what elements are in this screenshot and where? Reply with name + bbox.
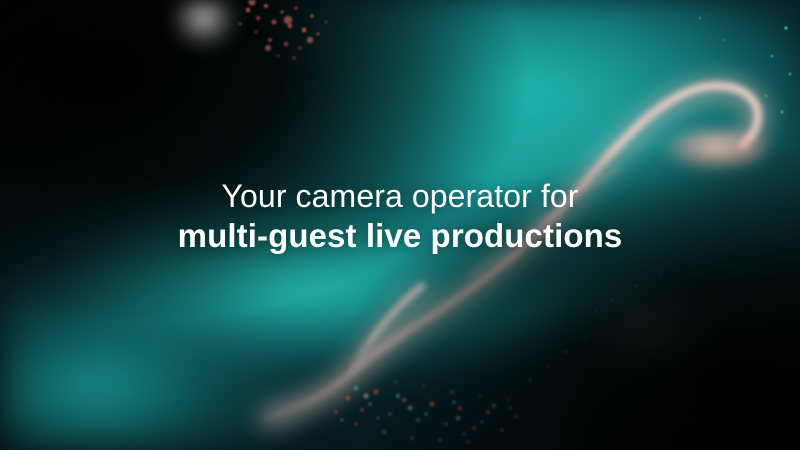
headline-line-emphasis: multi-guest live productions	[0, 217, 800, 256]
hero-headline: Your camera operator for multi-guest liv…	[0, 178, 800, 256]
headline-line-primary: Your camera operator for	[0, 178, 800, 216]
hero-banner: Your camera operator for multi-guest liv…	[0, 0, 800, 450]
